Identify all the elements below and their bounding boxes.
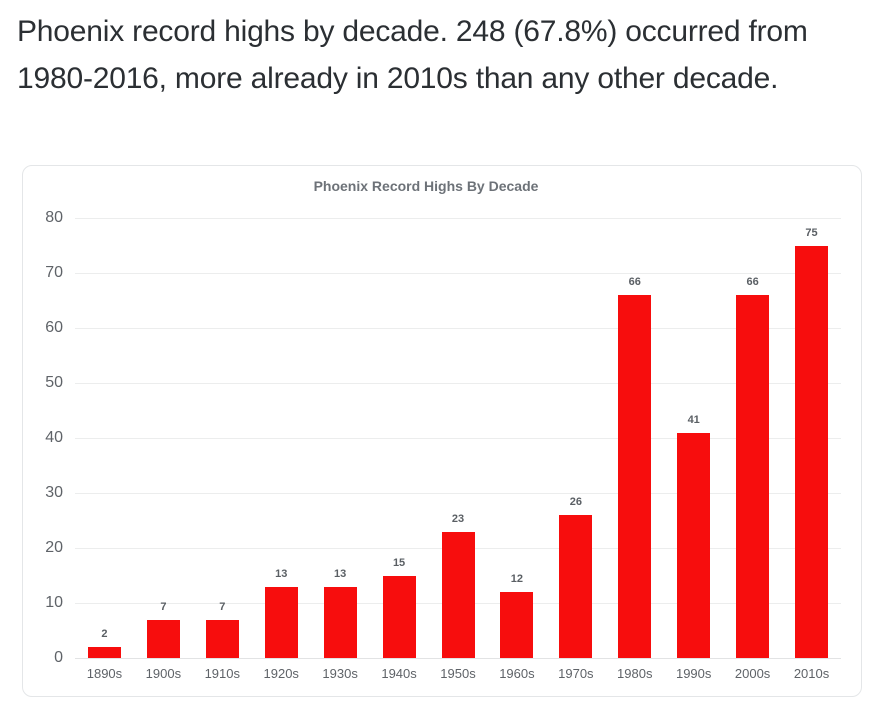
bar[interactable] bbox=[324, 587, 357, 659]
bar-value-label: 15 bbox=[369, 557, 429, 569]
bar-value-label: 66 bbox=[723, 276, 783, 288]
gridline bbox=[75, 383, 841, 384]
chart-plot-area: 0102030405060708021890s71900s71910s13192… bbox=[23, 166, 863, 698]
bar-value-label: 7 bbox=[192, 601, 252, 613]
bar-value-label: 12 bbox=[487, 573, 547, 585]
bar-value-label: 75 bbox=[782, 227, 842, 239]
bar-value-label: 66 bbox=[605, 276, 665, 288]
bar-value-label: 23 bbox=[428, 513, 488, 525]
bar[interactable] bbox=[147, 620, 180, 659]
gridline bbox=[75, 218, 841, 219]
bar-value-label: 7 bbox=[133, 601, 193, 613]
y-axis-tick-label: 30 bbox=[23, 484, 63, 502]
bar[interactable] bbox=[442, 532, 475, 659]
y-axis-tick-label: 20 bbox=[23, 539, 63, 557]
chart-card: Phoenix Record Highs By Decade 010203040… bbox=[22, 165, 862, 697]
bar[interactable] bbox=[500, 592, 533, 658]
bar-value-label: 26 bbox=[546, 496, 606, 508]
bar[interactable] bbox=[795, 246, 828, 659]
y-axis-tick-label: 10 bbox=[23, 594, 63, 612]
bar[interactable] bbox=[559, 515, 592, 658]
bar[interactable] bbox=[88, 647, 121, 658]
bar[interactable] bbox=[736, 295, 769, 658]
y-axis-tick-label: 70 bbox=[23, 264, 63, 282]
y-axis-tick-label: 60 bbox=[23, 319, 63, 337]
bar[interactable] bbox=[677, 433, 710, 659]
bar-value-label: 2 bbox=[74, 628, 134, 640]
bar-value-label: 13 bbox=[310, 568, 370, 580]
gridline bbox=[75, 658, 841, 659]
bar[interactable] bbox=[383, 576, 416, 659]
bar[interactable] bbox=[206, 620, 239, 659]
gridline bbox=[75, 493, 841, 494]
bar[interactable] bbox=[265, 587, 298, 659]
y-axis-tick-label: 0 bbox=[23, 649, 63, 667]
bar[interactable] bbox=[618, 295, 651, 658]
x-axis-tick-label: 2010s bbox=[776, 666, 848, 681]
gridline bbox=[75, 273, 841, 274]
bar-value-label: 13 bbox=[251, 568, 311, 580]
y-axis-tick-label: 80 bbox=[23, 209, 63, 227]
y-axis-tick-label: 40 bbox=[23, 429, 63, 447]
page-headline: Phoenix record highs by decade. 248 (67.… bbox=[17, 8, 857, 102]
gridline bbox=[75, 328, 841, 329]
gridline bbox=[75, 438, 841, 439]
bar-value-label: 41 bbox=[664, 414, 724, 426]
y-axis-tick-label: 50 bbox=[23, 374, 63, 392]
